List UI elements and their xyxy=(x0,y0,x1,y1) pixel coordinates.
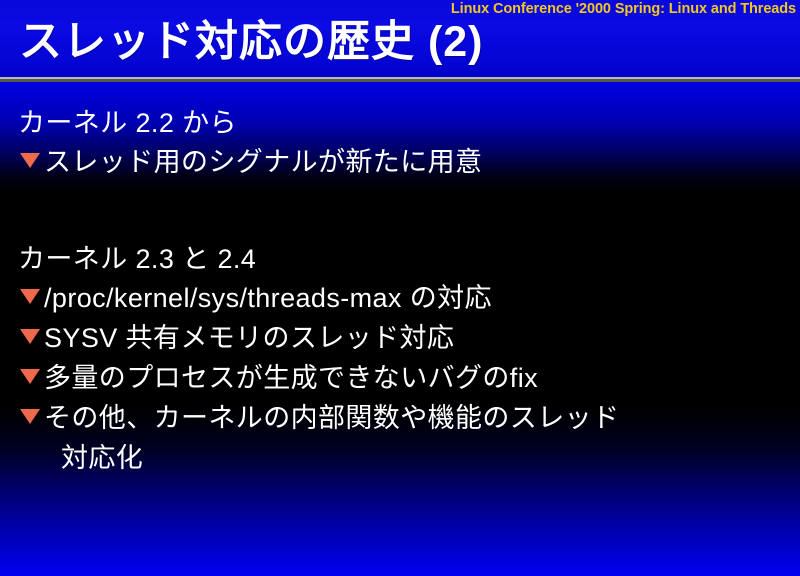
triangle-down-icon xyxy=(20,153,40,168)
bullet-item: SYSV 共有メモリのスレッド対応 xyxy=(18,318,800,358)
bullet-label: その他、カーネルの内部関数や機能のスレッド xyxy=(44,398,800,438)
content-section-1: カーネル 2.2 から スレッド用のシグナルが新たに用意 xyxy=(18,104,800,182)
content-section-2: カーネル 2.3 と 2.4 /proc/kernel/sys/threads-… xyxy=(18,240,800,478)
bullet-label: /proc/kernel/sys/threads-max の対応 xyxy=(44,278,800,318)
bullet-label: SYSV 共有メモリのスレッド対応 xyxy=(44,318,800,358)
slide-body: カーネル 2.2 から スレッド用のシグナルが新たに用意 カーネル 2.3 と … xyxy=(0,82,800,576)
section-lead-1: カーネル 2.2 から xyxy=(18,104,800,142)
bullet-item: その他、カーネルの内部関数や機能のスレッド 対応化 xyxy=(18,398,800,478)
triangle-down-icon xyxy=(20,369,40,384)
bullet-item: 多量のプロセスが生成できないバグのfix xyxy=(18,358,800,398)
bullet-label: 多量のプロセスが生成できないバグのfix xyxy=(44,358,800,398)
slide-header: Linux Conference '2000 Spring: Linux and… xyxy=(0,0,800,78)
triangle-down-icon xyxy=(20,289,40,304)
bullet-label: スレッド用のシグナルが新たに用意 xyxy=(44,142,800,182)
triangle-down-icon xyxy=(20,409,40,424)
bullet-item: スレッド用のシグナルが新たに用意 xyxy=(18,142,800,182)
presentation-slide: Linux Conference '2000 Spring: Linux and… xyxy=(0,0,800,576)
bullet-label-continuation: 対応化 xyxy=(44,438,800,478)
slide-title: スレッド対応の歴史 (2) xyxy=(19,15,484,69)
triangle-down-icon xyxy=(20,329,40,344)
conference-banner: Linux Conference '2000 Spring: Linux and… xyxy=(451,0,796,19)
bullet-item: /proc/kernel/sys/threads-max の対応 xyxy=(18,278,800,318)
section-lead-2: カーネル 2.3 と 2.4 xyxy=(18,240,800,278)
